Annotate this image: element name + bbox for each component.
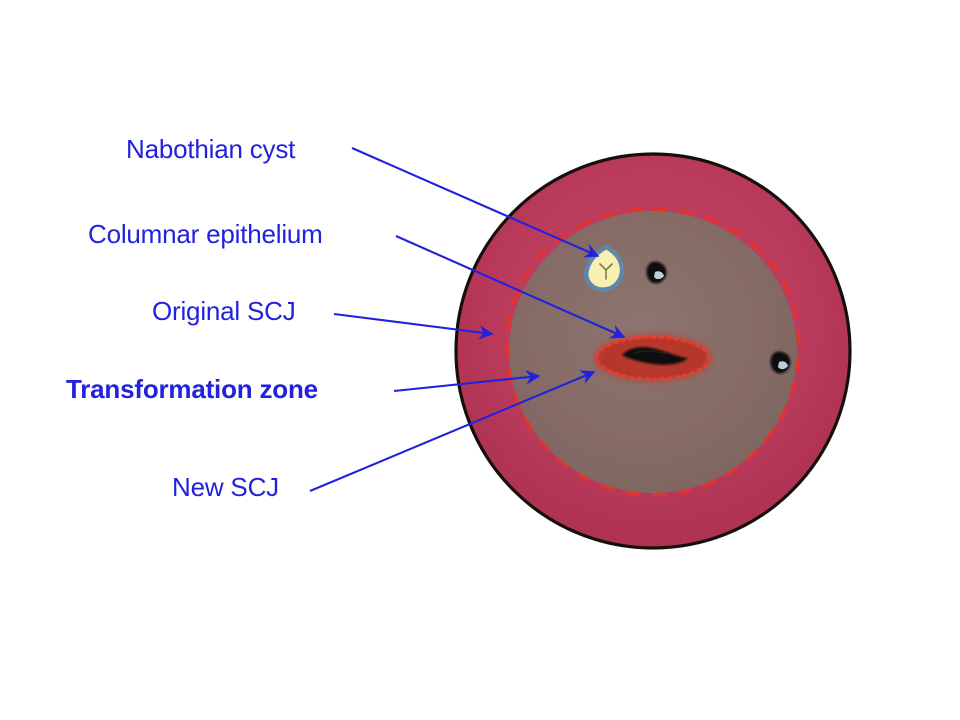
label-transformation-zone: Transformation zone [66, 374, 318, 404]
label-columnar-epithelium: Columnar epithelium [88, 219, 323, 249]
label-nabothian-cyst: Nabothian cyst [126, 134, 296, 164]
label-original-scj: Original SCJ [152, 296, 296, 326]
label-new-scj: New SCJ [172, 472, 279, 502]
cervix-illustration [456, 154, 850, 548]
diagram-canvas: Nabothian cyst Columnar epithelium Origi… [0, 0, 960, 720]
annotation-labels: Nabothian cyst Columnar epithelium Origi… [66, 134, 323, 502]
cervix-diagram: Nabothian cyst Columnar epithelium Origi… [0, 0, 960, 720]
